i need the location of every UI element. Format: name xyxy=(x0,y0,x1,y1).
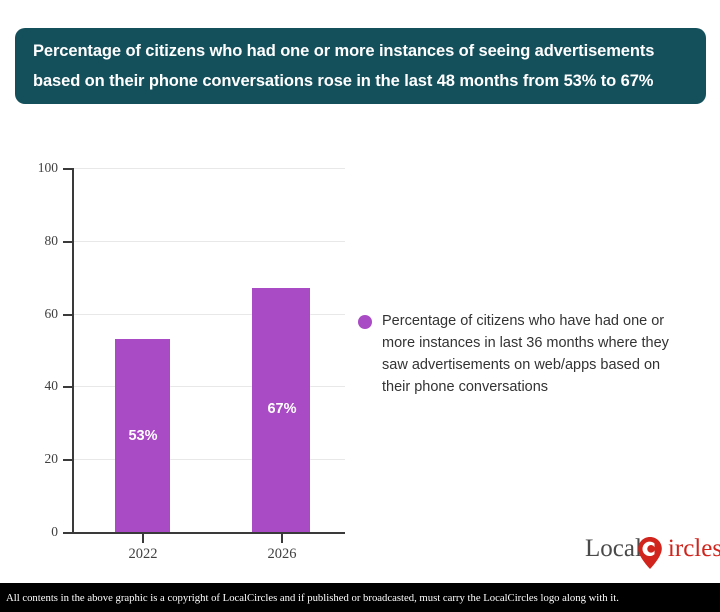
plot-area xyxy=(72,168,345,532)
y-tick-mark-100 xyxy=(63,168,73,170)
bar-chart: 100 80 60 40 20 0 2022 2026 53% 67% Perc… xyxy=(0,104,720,574)
x-tick-label-2026: 2026 xyxy=(242,546,322,563)
header-title-line-1: Percentage of citizens who had one or mo… xyxy=(33,36,688,66)
chart-legend: Percentage of citizens who have had one … xyxy=(358,310,708,398)
y-tick-label-0: 0 xyxy=(18,524,58,540)
gridline-100 xyxy=(72,168,345,169)
header-banner: Percentage of citizens who had one or mo… xyxy=(15,28,706,104)
y-tick-label-100: 100 xyxy=(18,160,58,176)
gridline-80 xyxy=(72,241,345,242)
y-axis-line xyxy=(72,168,74,533)
y-tick-label-80: 80 xyxy=(18,233,58,249)
y-tick-mark-80 xyxy=(63,241,73,243)
localcircles-logo: Localircles xyxy=(585,533,710,575)
y-tick-label-60: 60 xyxy=(18,306,58,322)
bar-value-2026: 67% xyxy=(242,401,322,417)
header-title-line-2: based on their phone conversations rose … xyxy=(33,66,688,96)
map-pin-icon xyxy=(637,536,663,570)
bar-value-2022: 53% xyxy=(103,428,183,444)
logo-text-local: Local xyxy=(585,535,642,562)
logo-text-ircles: ircles xyxy=(668,535,720,562)
x-tick-mark-2022 xyxy=(142,534,144,543)
x-tick-mark-2026 xyxy=(281,534,283,543)
y-tick-label-20: 20 xyxy=(18,451,58,467)
copyright-text: All contents in the above graphic is a c… xyxy=(6,592,619,604)
x-tick-label-2022: 2022 xyxy=(103,546,183,563)
legend-marker-icon xyxy=(358,315,372,329)
y-tick-mark-60 xyxy=(63,314,73,316)
y-tick-mark-40 xyxy=(63,386,73,388)
legend-label: Percentage of citizens who have had one … xyxy=(382,310,682,398)
copyright-footer: All contents in the above graphic is a c… xyxy=(0,583,720,612)
y-tick-label-40: 40 xyxy=(18,378,58,394)
x-axis-line xyxy=(72,532,345,534)
y-tick-mark-20 xyxy=(63,459,73,461)
y-tick-mark-0 xyxy=(63,532,73,534)
